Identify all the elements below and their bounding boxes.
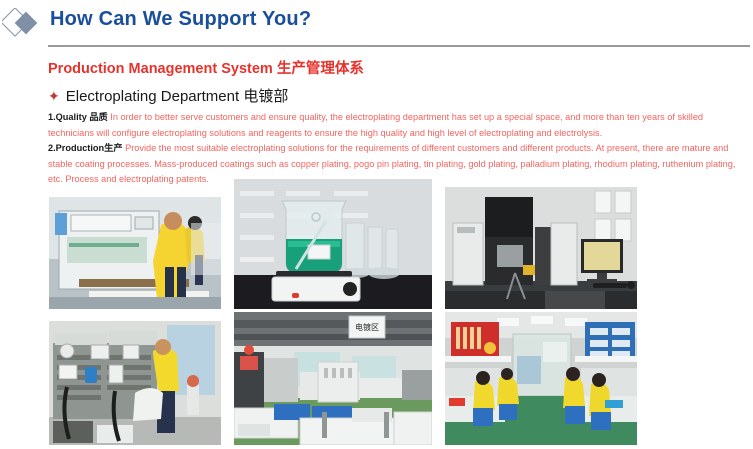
paragraph-quality-label: 1.Quality 品质 [48, 112, 108, 122]
photo-plating-tanks-area: 电镀区 [233, 311, 433, 446]
paragraph-production-label: 2.Production生产 [48, 143, 123, 153]
slide-root: How Can We Support You? Production Manag… [0, 0, 753, 449]
department-heading: ✦ Electroplating Department 电镀部 [48, 85, 288, 106]
svg-text:电镀区: 电镀区 [355, 322, 379, 332]
photo-control-panel-operator [48, 320, 222, 446]
diamond-star-bullet-icon: ✦ [48, 89, 60, 103]
department-label: Electroplating Department 电镀部 [66, 85, 289, 106]
page-title: How Can We Support You? [50, 8, 311, 31]
section-subtitle: Production Management System 生产管理体系 [48, 57, 364, 78]
photo-plating-line-operator [48, 196, 222, 310]
paragraph-quality: 1.Quality 品质 In order to better serve cu… [48, 110, 748, 141]
paragraph-quality-text: In order to better serve customers and e… [48, 112, 703, 138]
photo-inspection-workshop [444, 311, 638, 446]
photo-green-solution-beaker [233, 178, 433, 310]
double-diamond-logo [2, 8, 46, 42]
title-divider [48, 45, 750, 47]
photo-analysis-instrument [444, 186, 638, 310]
